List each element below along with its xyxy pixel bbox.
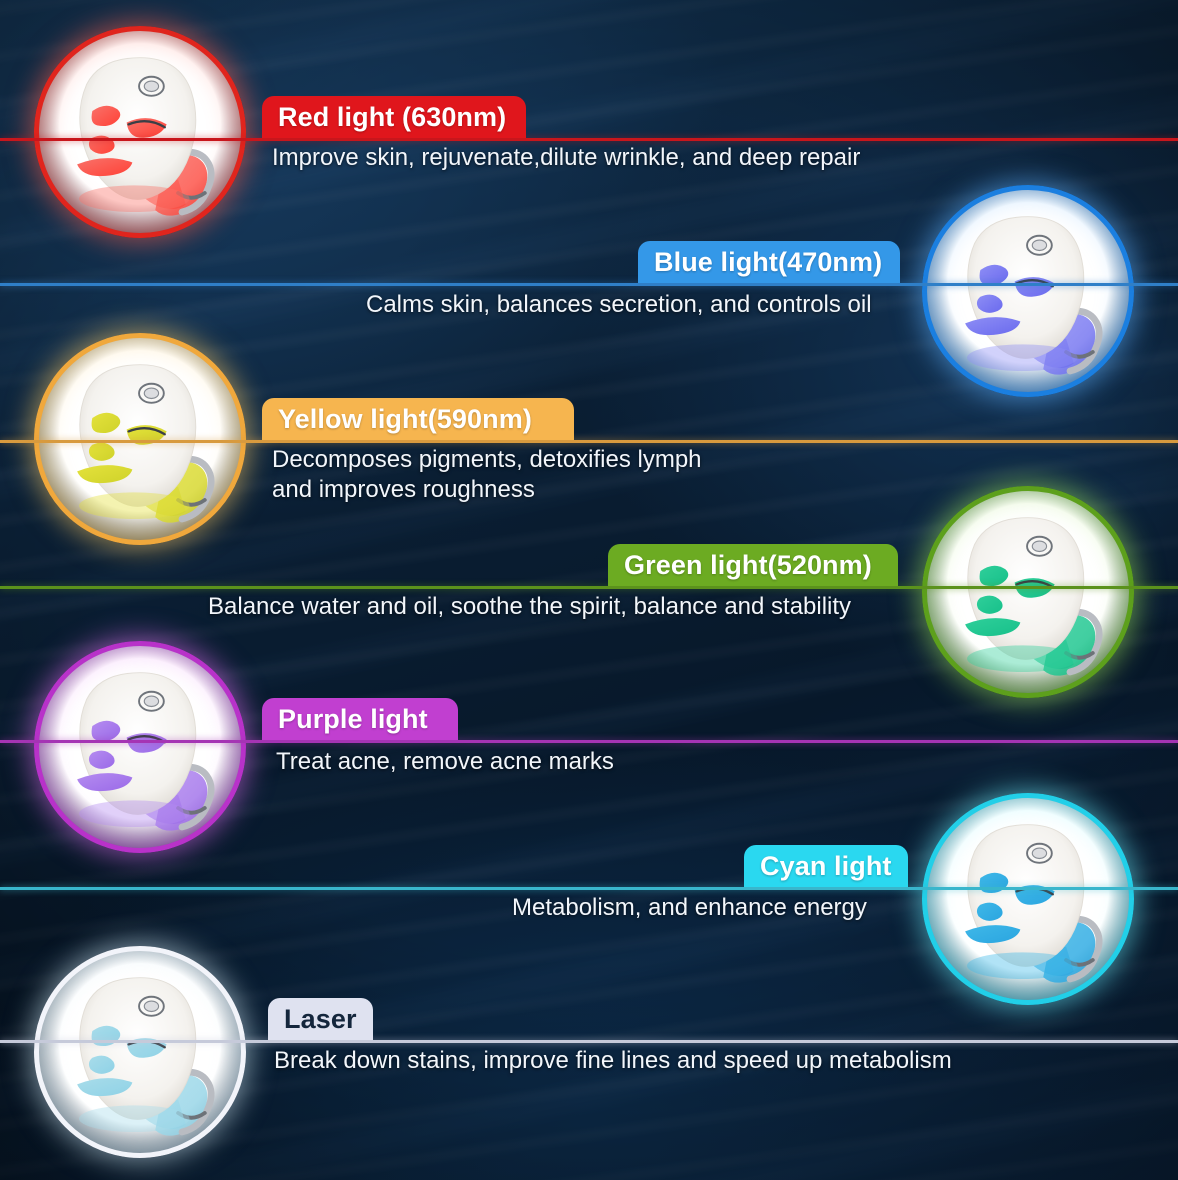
description-red: Improve skin, rejuvenate,dilute wrinkle,… — [272, 143, 860, 173]
mask-ring-yellow — [34, 333, 246, 545]
mask-ring-green — [922, 486, 1134, 698]
label-pill-purple[interactable]: Purple light — [262, 698, 458, 740]
label-pill-cyan[interactable]: Cyan light — [744, 845, 908, 887]
mask-ring-red — [34, 26, 246, 238]
mask-illustration — [927, 491, 1129, 693]
mask-image-yellow — [34, 333, 246, 545]
separator-line-blue — [0, 283, 1178, 286]
label-text-purple: Purple light — [278, 704, 428, 735]
separator-line-red — [0, 138, 1178, 141]
mask-ring-laser — [34, 946, 246, 1158]
label-text-blue: Blue light(470nm) — [654, 247, 882, 278]
label-pill-laser[interactable]: Laser — [268, 998, 373, 1040]
mask-illustration — [39, 338, 241, 540]
mask-illustration — [39, 646, 241, 848]
label-pill-green[interactable]: Green light(520nm) — [608, 544, 898, 586]
description-laser: Break down stains, improve fine lines an… — [274, 1046, 952, 1076]
separator-line-cyan — [0, 887, 1178, 890]
label-text-laser: Laser — [284, 1004, 357, 1035]
separator-line-green — [0, 586, 1178, 589]
separator-line-laser — [0, 1040, 1178, 1043]
mask-image-laser — [34, 946, 246, 1158]
separator-line-yellow — [0, 440, 1178, 443]
description-green: Balance water and oil, soothe the spirit… — [208, 592, 851, 622]
mask-image-cyan — [922, 793, 1134, 1005]
label-text-cyan: Cyan light — [760, 851, 892, 882]
label-pill-red[interactable]: Red light (630nm) — [262, 96, 526, 138]
label-text-red: Red light (630nm) — [278, 102, 506, 133]
label-pill-yellow[interactable]: Yellow light(590nm) — [262, 398, 574, 440]
mask-image-purple — [34, 641, 246, 853]
mask-illustration — [927, 798, 1129, 1000]
separator-line-purple — [0, 740, 1178, 743]
mask-illustration — [39, 31, 241, 233]
label-text-yellow: Yellow light(590nm) — [278, 404, 532, 435]
mask-ring-cyan — [922, 793, 1134, 1005]
mask-image-blue — [922, 185, 1134, 397]
label-pill-blue[interactable]: Blue light(470nm) — [638, 241, 900, 283]
description-cyan: Metabolism, and enhance energy — [512, 893, 867, 923]
description-yellow: Decomposes pigments, detoxifies lymph an… — [272, 445, 702, 506]
mask-image-red — [34, 26, 246, 238]
label-text-green: Green light(520nm) — [624, 550, 872, 581]
mask-illustration — [927, 190, 1129, 392]
description-blue: Calms skin, balances secretion, and cont… — [366, 290, 872, 320]
mask-ring-blue — [922, 185, 1134, 397]
mask-image-green — [922, 486, 1134, 698]
description-purple: Treat acne, remove acne marks — [276, 747, 614, 777]
mask-ring-purple — [34, 641, 246, 853]
mask-illustration — [39, 951, 241, 1153]
